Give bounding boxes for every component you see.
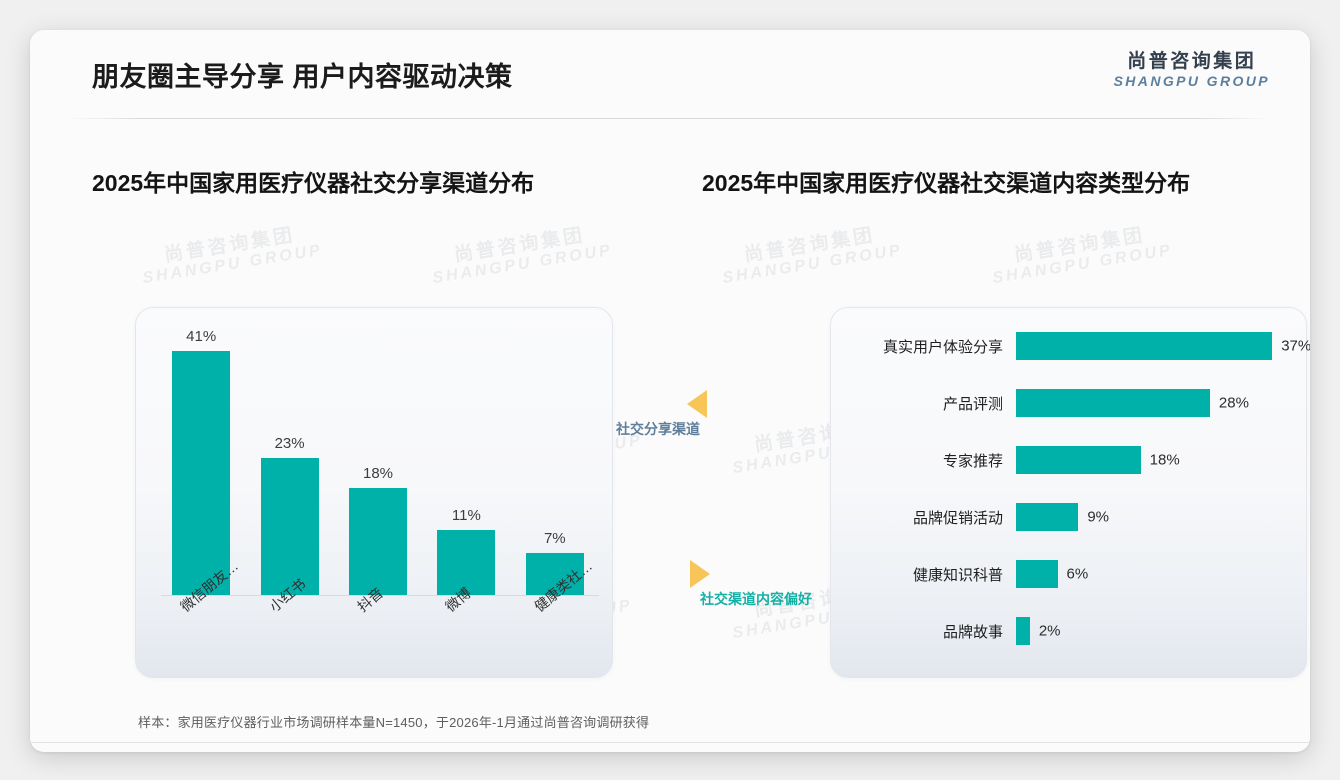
bar-category-label: 产品评测 — [830, 393, 1016, 414]
bar-row[interactable]: 产品评测28% — [830, 389, 1307, 417]
bar-fill[interactable] — [1016, 560, 1058, 588]
brand-logo-cn: 尚普咨询集团 — [1114, 52, 1270, 72]
bar-track: 9% — [1016, 503, 1307, 531]
bar-fill[interactable] — [1016, 503, 1078, 531]
bar-row[interactable]: 健康知识科普6% — [830, 560, 1307, 588]
bar-track: 2% — [1016, 617, 1307, 645]
watermark: 尚普咨询集团SHANGPU GROUP — [718, 221, 904, 288]
column-bar[interactable] — [349, 488, 407, 595]
column-value-label: 7% — [544, 530, 566, 547]
bar-track: 18% — [1016, 446, 1307, 474]
column-bar[interactable] — [437, 530, 495, 596]
bar-fill[interactable] — [1016, 446, 1141, 474]
bar-track: 6% — [1016, 560, 1307, 588]
page-title: 朋友圈主导分享 用户内容驱动决策 — [92, 55, 513, 94]
brand-logo-en: SHANGPU GROUP — [1114, 74, 1270, 89]
bar-track: 37% — [1016, 332, 1307, 360]
column-value-label: 23% — [275, 435, 305, 452]
column-bar-group[interactable]: 11% — [437, 317, 495, 595]
bar-category-label: 专家推荐 — [830, 450, 1016, 471]
bar-category-label: 品牌促销活动 — [830, 507, 1016, 528]
annotation-label: 社交渠道内容偏好 — [700, 589, 812, 609]
column-bar-group[interactable]: 7% — [526, 317, 584, 595]
column-bar-group[interactable]: 41% — [172, 317, 230, 595]
bar-fill[interactable] — [1016, 617, 1030, 645]
footer-divider — [30, 742, 1310, 743]
bar-fill[interactable] — [1016, 389, 1210, 417]
triangle-left-icon — [687, 390, 707, 418]
bar-row[interactable]: 专家推荐18% — [830, 446, 1307, 474]
bar-value-label: 28% — [1219, 395, 1249, 412]
bar-track: 28% — [1016, 389, 1307, 417]
watermark: 尚普咨询集团SHANGPU GROUP — [138, 221, 324, 288]
column-bar[interactable] — [261, 458, 319, 595]
bar-value-label: 18% — [1150, 452, 1180, 469]
annotation-label: 社交分享渠道 — [616, 419, 700, 439]
column-bar-group[interactable]: 18% — [349, 317, 407, 595]
column-plot-area: 41%23%18%11%7% — [157, 317, 599, 595]
column-value-label: 41% — [186, 328, 216, 345]
bar-category-label: 品牌故事 — [830, 621, 1016, 642]
left-chart-title: 2025年中国家用医疗仪器社交分享渠道分布 — [92, 164, 534, 198]
bar-value-label: 37% — [1281, 338, 1310, 355]
content-type-chart: 真实用户体验分享37%产品评测28%专家推荐18%品牌促销活动9%健康知识科普6… — [830, 307, 1307, 678]
header-divider — [68, 118, 1272, 119]
slide-canvas: 尚普咨询集团SHANGPU GROUP尚普咨询集团SHANGPU GROUP尚普… — [30, 30, 1310, 752]
column-bar[interactable] — [172, 351, 230, 595]
watermark: 尚普咨询集团SHANGPU GROUP — [988, 221, 1174, 288]
bar-value-label: 2% — [1039, 623, 1061, 640]
bar-value-label: 9% — [1087, 509, 1109, 526]
bar-category-label: 真实用户体验分享 — [830, 336, 1016, 357]
bar-row[interactable]: 真实用户体验分享37% — [830, 332, 1307, 360]
bar-category-label: 健康知识科普 — [830, 564, 1016, 585]
bar-row[interactable]: 品牌故事2% — [830, 617, 1307, 645]
column-value-label: 11% — [452, 507, 481, 524]
bar-value-label: 6% — [1067, 566, 1089, 583]
bar-row[interactable]: 品牌促销活动9% — [830, 503, 1307, 531]
watermark: 尚普咨询集团SHANGPU GROUP — [428, 221, 614, 288]
triangle-right-icon — [690, 560, 710, 588]
social-share-channel-chart: 41%23%18%11%7% 微信朋友…小红书抖音微博健康类社… — [135, 307, 613, 678]
column-bar-group[interactable]: 23% — [261, 317, 319, 595]
sample-footnote: 样本：家用医疗仪器行业市场调研样本量N=1450，于2026年-1月通过尚普咨询… — [138, 712, 649, 731]
bar-fill[interactable] — [1016, 332, 1272, 360]
column-value-label: 18% — [363, 465, 393, 482]
slide-header: 朋友圈主导分享 用户内容驱动决策 尚普咨询集团 SHANGPU GROUP — [30, 30, 1310, 118]
right-chart-title: 2025年中国家用医疗仪器社交渠道内容类型分布 — [702, 164, 1190, 198]
brand-logo: 尚普咨询集团 SHANGPU GROUP — [1114, 52, 1270, 89]
